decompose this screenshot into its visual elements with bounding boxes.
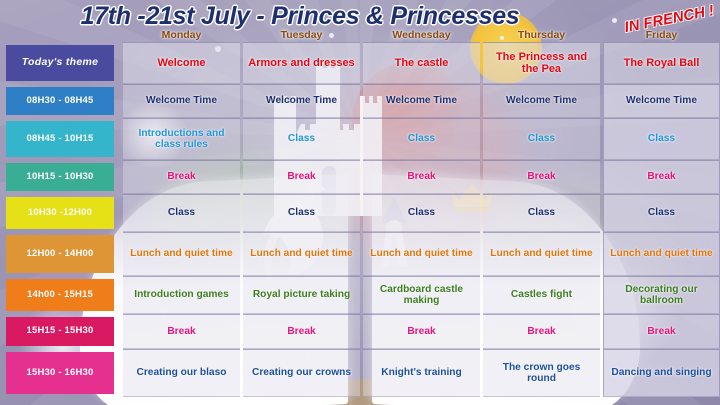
cell-thursday-8: The crown goes round — [483, 349, 600, 397]
time-slot-cell-5: 12H00 - 14H00 — [0, 232, 120, 276]
cell-thursday-2: Class — [483, 118, 600, 160]
time-slot-cell-1: 08H30 - 08H45 — [0, 84, 120, 118]
cell-friday-4: Class — [603, 194, 720, 232]
time-slot-label-8: 15H30 - 16H30 — [6, 352, 114, 394]
grid-corner — [0, 27, 120, 42]
time-slot-label-3: 10H15 - 10H30 — [6, 163, 114, 191]
time-slot-cell-8: 15H30 - 16H30 — [0, 349, 120, 397]
cell-thursday-3: Break — [483, 160, 600, 194]
schedule-grid: Monday Tuesday Wednesday Thursday Friday… — [0, 27, 720, 405]
cell-thursday-6: Castles fight — [483, 276, 600, 314]
cell-wednesday-8: Knight's training — [363, 349, 480, 397]
day-header-wednesday: Wednesday — [363, 27, 480, 42]
cell-wednesday-2: Class — [363, 118, 480, 160]
time-slot-label-7: 15H15 - 15H30 — [6, 317, 114, 346]
cell-tuesday-4: Class — [243, 194, 360, 232]
cell-tuesday-7: Break — [243, 314, 360, 349]
day-header-friday: Friday — [603, 27, 720, 42]
cell-thursday-1: Welcome Time — [483, 84, 600, 118]
time-slot-label-1: 08H30 - 08H45 — [6, 87, 114, 115]
cell-tuesday-3: Break — [243, 160, 360, 194]
cell-monday-3: Break — [123, 160, 240, 194]
cell-thursday-0: The Princess and the Pea — [483, 42, 600, 84]
cell-friday-3: Break — [603, 160, 720, 194]
cell-monday-1: Welcome Time — [123, 84, 240, 118]
cell-friday-6: Decorating our ballroom — [603, 276, 720, 314]
schedule-slide: 17th -21st July - Princes & Princesses I… — [0, 0, 720, 405]
cell-tuesday-0: Armors and dresses — [243, 42, 360, 84]
cell-tuesday-5: Lunch and quiet time — [243, 232, 360, 276]
cell-monday-0: Welcome — [123, 42, 240, 84]
cell-friday-5: Lunch and quiet time — [603, 232, 720, 276]
time-slot-cell-2: 08H45 - 10H15 — [0, 118, 120, 160]
cell-wednesday-0: The castle — [363, 42, 480, 84]
cell-tuesday-1: Welcome Time — [243, 84, 360, 118]
time-slot-label-0: Today's theme — [6, 45, 114, 81]
cell-wednesday-7: Break — [363, 314, 480, 349]
cell-friday-2: Class — [603, 118, 720, 160]
time-slot-label-2: 08H45 - 10H15 — [6, 121, 114, 157]
cell-tuesday-6: Royal picture taking — [243, 276, 360, 314]
cell-friday-7: Break — [603, 314, 720, 349]
cell-monday-5: Lunch and quiet time — [123, 232, 240, 276]
cell-friday-1: Welcome Time — [603, 84, 720, 118]
cell-wednesday-3: Break — [363, 160, 480, 194]
time-slot-cell-0: Today's theme — [0, 42, 120, 84]
time-slot-cell-3: 10H15 - 10H30 — [0, 160, 120, 194]
cell-monday-4: Class — [123, 194, 240, 232]
time-slot-cell-6: 14h00 - 15H15 — [0, 276, 120, 314]
cell-thursday-4: Class — [483, 194, 600, 232]
cell-friday-8: Dancing and singing — [603, 349, 720, 397]
cell-tuesday-8: Creating our crowns — [243, 349, 360, 397]
time-slot-label-5: 12H00 - 14H00 — [6, 235, 114, 273]
time-slot-label-4: 10H30 -12H00 — [6, 197, 114, 229]
cell-thursday-5: Lunch and quiet time — [483, 232, 600, 276]
cell-wednesday-1: Welcome Time — [363, 84, 480, 118]
day-header-thursday: Thursday — [483, 27, 600, 42]
cell-monday-7: Break — [123, 314, 240, 349]
cell-tuesday-2: Class — [243, 118, 360, 160]
cell-thursday-7: Break — [483, 314, 600, 349]
day-header-tuesday: Tuesday — [243, 27, 360, 42]
cell-wednesday-6: Cardboard castle making — [363, 276, 480, 314]
time-slot-cell-7: 15H15 - 15H30 — [0, 314, 120, 349]
cell-friday-0: The Royal Ball — [603, 42, 720, 84]
time-slot-label-6: 14h00 - 15H15 — [6, 279, 114, 311]
cell-wednesday-5: Lunch and quiet time — [363, 232, 480, 276]
day-header-monday: Monday — [123, 27, 240, 42]
cell-wednesday-4: Class — [363, 194, 480, 232]
cell-monday-8: Creating our blaso — [123, 349, 240, 397]
confetti-dot — [612, 18, 617, 23]
time-slot-cell-4: 10H30 -12H00 — [0, 194, 120, 232]
cell-monday-6: Introduction games — [123, 276, 240, 314]
cell-monday-2: Introductions and class rules — [123, 118, 240, 160]
